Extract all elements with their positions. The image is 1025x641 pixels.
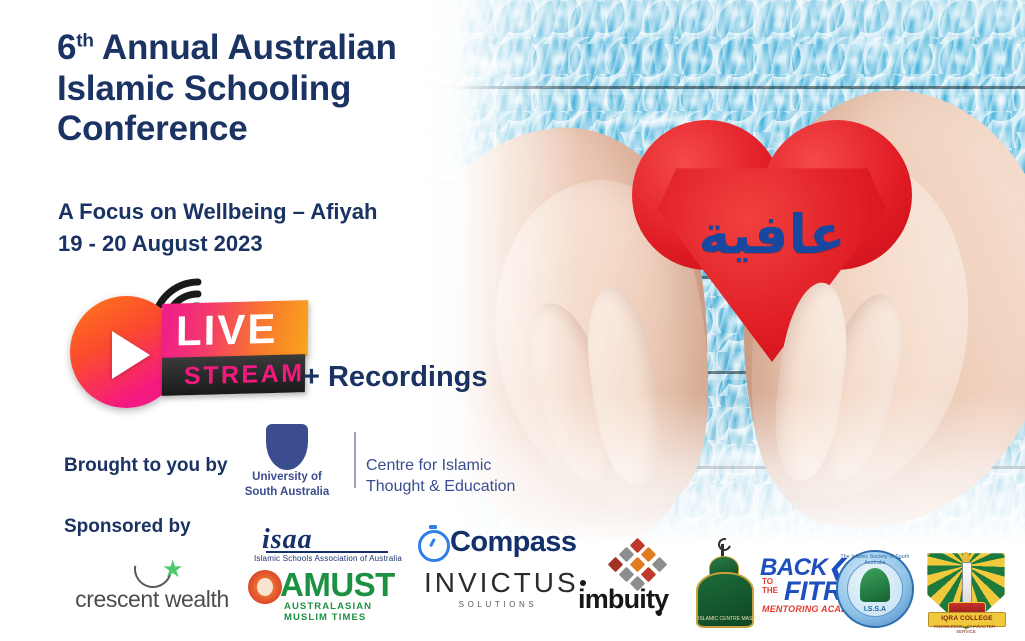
poster-canvas: عافية 6th Annual Australian Islamic Scho…	[0, 0, 1025, 641]
sponsor-masjid-emblem[interactable]: ISLAMIC CENTRE MASJID	[692, 548, 754, 626]
star-icon: ★	[162, 560, 184, 580]
cite-line-1: Centre for Islamic	[366, 456, 536, 477]
sponsor-compass[interactable]: Compass	[418, 528, 578, 562]
recordings-label: + Recordings	[303, 361, 488, 394]
imbuity-wordmark: imbuity	[578, 584, 696, 615]
page-title: 6th Annual Australian Islamic Schooling …	[57, 28, 477, 150]
invictus-subtitle: SOLUTIONS	[424, 600, 572, 609]
subtitle: A Focus on Wellbeing – Afiyah	[58, 196, 488, 227]
college-motto: KNOWLEDGE · CHARACTER · SERVICE	[924, 624, 1008, 634]
sponsor-amust[interactable]: AMUST AUSTRALASIAN MUSLIM TIMES	[248, 568, 416, 614]
stream-label: STREAM	[184, 358, 305, 391]
compass-wordmark: Compass	[450, 526, 576, 559]
unisa-u-glyph	[316, 432, 338, 456]
unisa-shield-icon	[266, 424, 308, 470]
mosque-icon: ISLAMIC CENTRE MASJID	[696, 572, 754, 628]
crescent-wealth-wordmark: crescent wealth	[62, 586, 242, 613]
stopwatch-icon	[418, 530, 450, 562]
unisa-line-2: South Australia	[228, 485, 346, 500]
brought-to-you-by-label: Brought to you by	[64, 455, 228, 477]
imbuity-dot-bottom	[656, 610, 662, 616]
amust-circle-icon	[248, 570, 282, 604]
cite-wordmark[interactable]: Centre for Islamic Thought & Education	[366, 456, 536, 498]
sponsor-imbuity[interactable]: imbuity	[578, 540, 693, 614]
amust-wordmark: AMUST	[280, 568, 395, 602]
issa-abbreviation: I.S.S.A	[836, 606, 914, 613]
sponsor-college-crest[interactable]: IQRA COLLEGE KNOWLEDGE · CHARACTER · SER…	[924, 550, 1008, 630]
logo-divider	[354, 432, 356, 488]
conference-dates: 19 - 20 August 2023	[58, 228, 488, 259]
unisa-wordmark: University of South Australia	[228, 470, 346, 499]
isaa-subtitle: Islamic Schools Association of Australia	[252, 554, 404, 563]
masjid-caption: ISLAMIC CENTRE MASJID	[698, 616, 760, 624]
sponsored-by-label: Sponsored by	[64, 516, 191, 538]
sponsor-crescent-wealth[interactable]: ★ crescent wealth	[62, 550, 242, 620]
title-ordinal-suffix: th	[76, 30, 93, 51]
isaa-wordmark: isaa	[262, 524, 382, 552]
crescent-word-b: wealth	[159, 586, 229, 612]
diamond-grid-icon	[610, 540, 664, 586]
live-banner: LIVE	[162, 300, 309, 360]
title-ordinal: 6	[57, 28, 76, 67]
stream-banner: STREAM	[162, 354, 305, 396]
sponsor-isaa[interactable]: isaa Islamic Schools Association of Aust…	[252, 524, 402, 566]
invictus-wordmark: INVICTUS	[424, 568, 574, 598]
fitrah-the: THE	[762, 587, 778, 596]
play-icon	[112, 331, 150, 379]
crescent-word-a: crescent	[75, 586, 159, 612]
issa-ring-text: The Islamic Society of South Australia	[836, 554, 914, 566]
mosque-dome-icon	[860, 568, 890, 602]
unisa-logo[interactable]: University of South Australia	[228, 424, 346, 496]
title-rest: Annual Australian Islamic Schooling Conf…	[57, 28, 397, 148]
fitrah-to-the: TO THE	[762, 578, 778, 595]
sponsor-issa[interactable]: The Islamic Society of South Australia I…	[836, 550, 914, 628]
live-stream-badge[interactable]: LIVE STREAM	[70, 276, 305, 411]
live-label: LIVE	[176, 305, 278, 356]
unisa-line-1: University of	[228, 470, 346, 485]
cite-line-2: Thought & Education	[366, 477, 536, 498]
torch-icon	[962, 562, 972, 606]
sponsor-invictus[interactable]: INVICTUS SOLUTIONS	[424, 568, 574, 610]
isaa-underline	[266, 551, 388, 553]
amust-subtitle: AUSTRALASIAN MUSLIM TIMES	[284, 601, 416, 623]
